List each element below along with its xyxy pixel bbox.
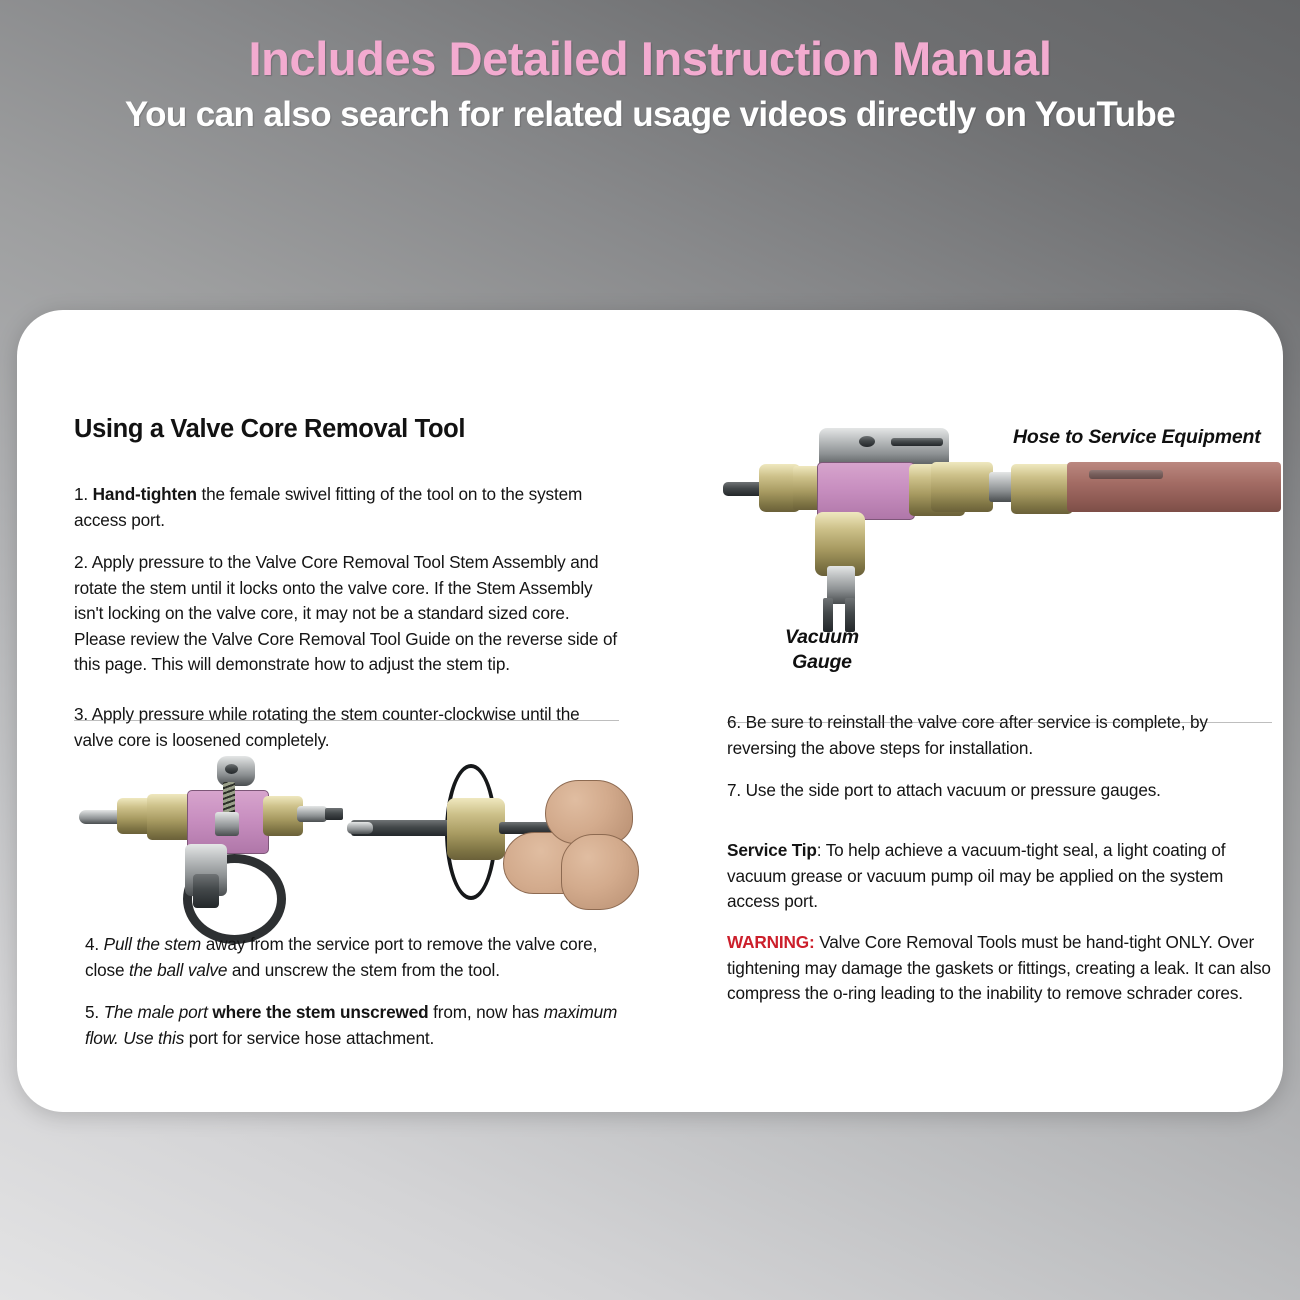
step-5-italic-a: The male port	[104, 1002, 213, 1022]
banner: Includes Detailed Instruction Manual You…	[0, 0, 1300, 134]
stem-tip-b	[347, 822, 373, 834]
step-1-paragraph: 1. Hand-tighten the female swivel fittin…	[74, 482, 596, 533]
scan-artifact-line-right	[727, 722, 1272, 723]
hose-highlight	[1089, 470, 1163, 479]
step-5-bold: where the stem unscrewed	[212, 1002, 428, 1022]
stem-slot-main	[891, 438, 943, 446]
step-5-text: port for service hose attachment.	[184, 1028, 434, 1048]
step-4-paragraph: 4. Pull the stem away from the service p…	[85, 932, 630, 983]
stem-hole-a	[225, 764, 238, 774]
label-vacuum-gauge: Vacuum Gauge	[785, 625, 859, 675]
step-2-paragraph: 2. Apply pressure to the Valve Core Remo…	[74, 550, 619, 678]
instruction-manual-card: Using a Valve Core Removal Tool 1. Hand-…	[17, 310, 1283, 1112]
service-tip-paragraph: Service Tip: To help achieve a vacuum-ti…	[727, 838, 1262, 915]
photo-valve-assembly: Hose to Service Equipment Vacuum Gauge	[723, 420, 1283, 695]
finger-thumb	[561, 834, 639, 910]
vacuum-line-right	[845, 598, 855, 632]
service-tip-label: Service Tip	[727, 840, 817, 860]
step-5-number: 5.	[85, 1002, 104, 1022]
stem-block-a	[215, 812, 239, 836]
stem-hole-main	[859, 436, 875, 447]
detached-core-a	[325, 808, 343, 820]
label-vacuum-line2: Gauge	[785, 650, 859, 675]
scan-artifact-line	[74, 720, 619, 721]
step-5-mid: from, now has	[429, 1002, 544, 1022]
vacuum-line-left	[823, 598, 833, 632]
brass-body-b	[447, 798, 505, 860]
page-title: Using a Valve Core Removal Tool	[74, 415, 465, 444]
step-5-paragraph: 5. The male port where the stem unscrewe…	[85, 1000, 630, 1051]
step-4-text: and unscrew the stem from the tool.	[227, 960, 500, 980]
right-column: Hose to Service Equipment Vacuum Gauge	[717, 310, 1283, 1112]
brass-nut-main-2	[1011, 464, 1073, 514]
warning-paragraph: WARNING: Valve Core Removal Tools must b…	[727, 930, 1272, 1007]
left-figure-group	[65, 748, 635, 938]
left-column: Using a Valve Core Removal Tool 1. Hand-…	[57, 310, 642, 1112]
port-a	[297, 806, 327, 822]
step-3-paragraph: 3. Apply pressure while rotating the ste…	[74, 702, 619, 753]
step-4-number: 4.	[85, 934, 104, 954]
page-root: Includes Detailed Instruction Manual You…	[0, 0, 1300, 1300]
step-6-paragraph: 6. Be sure to reinstall the valve core a…	[727, 710, 1272, 761]
step-1-number: 1.	[74, 484, 93, 504]
step-1-bold: Hand-tighten	[93, 484, 197, 504]
label-hose-to-service-equipment: Hose to Service Equipment	[1013, 426, 1260, 449]
banner-subtitle: You can also search for related usage vi…	[0, 97, 1300, 134]
warning-label: WARNING:	[727, 932, 815, 952]
banner-title: Includes Detailed Instruction Manual	[0, 34, 1300, 83]
step-4-italic-b: the ball valve	[129, 960, 227, 980]
side-port-tip-a	[193, 874, 219, 908]
step-4-italic-a: Pull the stem	[104, 934, 201, 954]
photo-hand-rotating-stem	[347, 748, 635, 934]
brass-body-main	[931, 462, 993, 512]
step-7-paragraph: 7. Use the side port to attach vacuum or…	[727, 778, 1272, 804]
photo-valve-tool-with-loop	[75, 754, 343, 934]
